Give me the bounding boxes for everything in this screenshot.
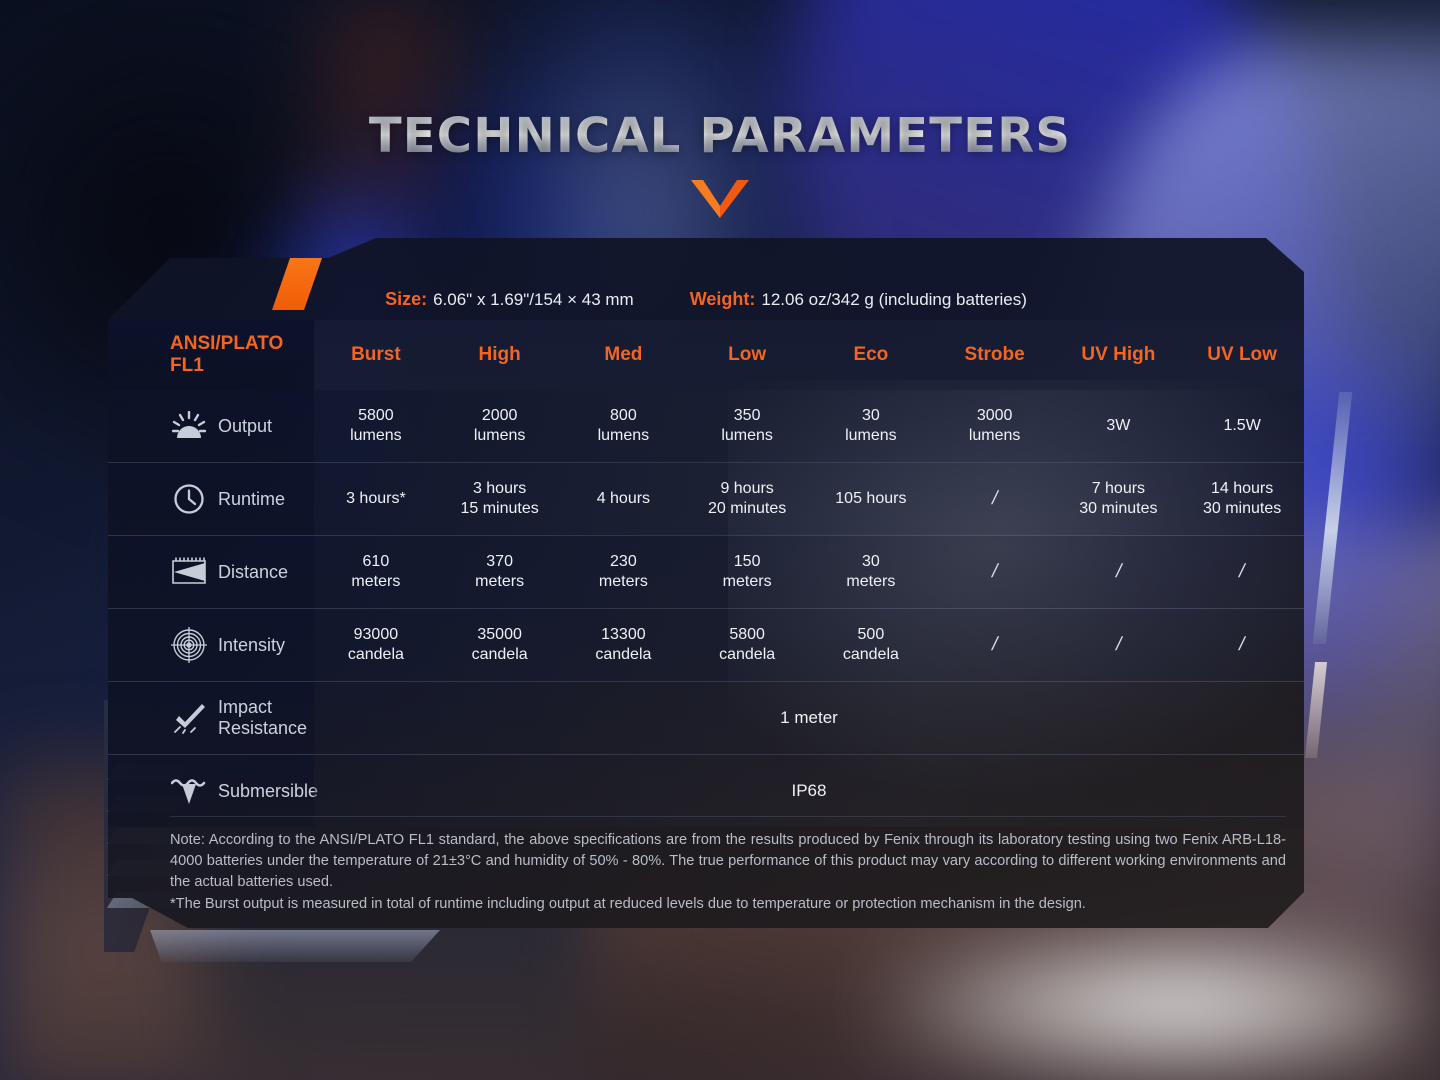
cell: 7 hours30 minutes <box>1057 463 1181 535</box>
row-header-distance: Distance <box>108 536 314 608</box>
cell-line1: / <box>1237 560 1247 584</box>
cell-line2: meters <box>599 572 648 592</box>
cell-line2: 30 minutes <box>1203 499 1281 519</box>
clock-glyph <box>173 483 205 515</box>
cell-line2: lumens <box>969 426 1021 446</box>
header-cell-high: High <box>438 320 562 390</box>
note-block: Note: According to the ANSI/PLATO FL1 st… <box>170 830 1286 915</box>
cell-line1: 30 <box>862 552 880 572</box>
row-label-line1: Impact <box>218 697 272 717</box>
cell-line1: 9 hours <box>720 479 773 499</box>
cell-line1: 350 <box>734 406 761 426</box>
cell-line2: meters <box>351 572 400 592</box>
cell: 230meters <box>562 536 686 608</box>
size-value: 6.06" x 1.69"/154 × 43 mm <box>433 290 634 309</box>
cell-line1: 610 <box>363 552 390 572</box>
cell-line1: / <box>989 633 999 657</box>
cell: 14 hours30 minutes <box>1180 463 1304 535</box>
chevron-down-glyph <box>691 178 749 218</box>
cell: 3 hours15 minutes <box>438 463 562 535</box>
size-weight-bar: Size:6.06" x 1.69"/154 × 43 mm Weight:12… <box>108 274 1304 324</box>
cell-line1: / <box>1113 633 1123 657</box>
header-cell-burst: Burst <box>314 320 438 390</box>
row-cells: 3 hours* 3 hours15 minutes 4 hours 9 hou… <box>314 463 1304 535</box>
cell: 30lumens <box>809 390 933 462</box>
row-label-submersible: Submersible <box>218 781 318 802</box>
cell: 3 hours* <box>314 463 438 535</box>
row-header-impact-resistance: ImpactResistance <box>108 682 314 754</box>
cell-line1: 500 <box>858 625 885 645</box>
header-cells: Burst High Med Low Eco Strobe UV High UV… <box>314 320 1304 390</box>
cell-line1: 93000 <box>354 625 399 645</box>
cell: 1.5W <box>1180 390 1304 462</box>
row-label-impact-resistance: ImpactResistance <box>218 697 307 738</box>
impact-drop-glyph <box>172 702 206 734</box>
cell: / <box>1180 609 1304 681</box>
cell-line2: lumens <box>721 426 773 446</box>
cell-line2: meters <box>846 572 895 592</box>
header-cell-eco: Eco <box>809 320 933 390</box>
cell-line1: 4 hours <box>597 489 650 509</box>
cell: 30meters <box>809 536 933 608</box>
cell: 4 hours <box>562 463 686 535</box>
table-row: ImpactResistance 1 meter <box>108 681 1304 754</box>
cell-line1: 3 hours* <box>346 489 406 509</box>
row-label-line2: Resistance <box>218 718 307 738</box>
cell-line1: 1.5W <box>1223 416 1260 436</box>
cell-line1: 105 hours <box>835 489 906 509</box>
cell-line2: candela <box>472 645 528 665</box>
cell-line2: meters <box>723 572 772 592</box>
row-label-runtime: Runtime <box>218 489 285 510</box>
header-label: Low <box>728 343 766 367</box>
row-cells: 5800lumens 2000lumens 800lumens 350lumen… <box>314 390 1304 462</box>
cell-line1: 370 <box>486 552 513 572</box>
cell: 13300candela <box>562 609 686 681</box>
row-header-output: Output <box>108 390 314 462</box>
row-label-intensity: Intensity <box>218 635 285 656</box>
table-row: Distance 610meters 370meters 230meters 1… <box>108 535 1304 608</box>
note-footnote: *The Burst output is measured in total o… <box>170 894 1286 915</box>
cell: 93000candela <box>314 609 438 681</box>
row-header-runtime: Runtime <box>108 463 314 535</box>
header-cell-low: Low <box>685 320 809 390</box>
header-label: UV High <box>1081 343 1155 367</box>
weight-value: 12.06 oz/342 g (including batteries) <box>761 290 1027 309</box>
cell: 610meters <box>314 536 438 608</box>
cell-line1: / <box>989 560 999 584</box>
beam-distance-glyph <box>171 557 207 587</box>
cell-line2: lumens <box>474 426 526 446</box>
header-cell-strobe: Strobe <box>933 320 1057 390</box>
cell-line1: 800 <box>610 406 637 426</box>
cell: 350lumens <box>685 390 809 462</box>
cell-line1: / <box>1237 633 1247 657</box>
cell-line1: / <box>989 487 999 511</box>
table-row: Runtime 3 hours* 3 hours15 minutes 4 hou… <box>108 462 1304 535</box>
weight-group: Weight:12.06 oz/342 g (including batteri… <box>690 289 1027 310</box>
cell: / <box>933 463 1057 535</box>
note-body: Note: According to the ANSI/PLATO FL1 st… <box>170 830 1286 893</box>
cell-line1: 7 hours <box>1092 479 1145 499</box>
cell: 105 hours <box>809 463 933 535</box>
note-separator <box>170 816 1286 817</box>
header-cell-uv-low: UV Low <box>1180 320 1304 390</box>
specifications-table: ANSI/PLATO FL1 Burst High Med Low Eco St… <box>108 320 1304 827</box>
impact-drop-icon <box>170 702 208 734</box>
cell-line1: 5800 <box>358 406 394 426</box>
cell-line2: candela <box>843 645 899 665</box>
sun-burst-glyph <box>172 411 206 441</box>
chevron-down-icon <box>0 178 1440 223</box>
submersible-icon <box>170 776 208 806</box>
cell-line1: 3 hours <box>473 479 526 499</box>
cell-line1: 5800 <box>729 625 765 645</box>
target-intensity-glyph <box>171 627 207 663</box>
row-cells: 610meters 370meters 230meters 150meters … <box>314 536 1304 608</box>
cell: / <box>933 536 1057 608</box>
cell-line2: lumens <box>350 426 402 446</box>
cell-line2: lumens <box>598 426 650 446</box>
header-label: Burst <box>351 343 401 367</box>
table-row: Output 5800lumens 2000lumens 800lumens 3… <box>108 390 1304 462</box>
size-label: Size: <box>385 289 427 309</box>
row-label-output: Output <box>218 416 272 437</box>
cell-line2: 30 minutes <box>1079 499 1157 519</box>
row-cells: 93000candela 35000candela 13300candela 5… <box>314 609 1304 681</box>
cell-line1: 150 <box>734 552 761 572</box>
cell: 5800candela <box>685 609 809 681</box>
panel-content: Size:6.06" x 1.69"/154 × 43 mm Weight:12… <box>108 238 1304 958</box>
cell: 2000lumens <box>438 390 562 462</box>
cell-line2: candela <box>719 645 775 665</box>
submersible-value: IP68 <box>572 781 1046 801</box>
cell: / <box>933 609 1057 681</box>
cell: 800lumens <box>562 390 686 462</box>
cell: 9 hours20 minutes <box>685 463 809 535</box>
cell-line1: 3000 <box>977 406 1013 426</box>
cell: 5800lumens <box>314 390 438 462</box>
header-label: High <box>479 343 521 367</box>
header-cell-med: Med <box>562 320 686 390</box>
page-title-text: TECHNICAL PARAMETERS <box>369 108 1071 164</box>
cell: / <box>1057 536 1181 608</box>
impact-resistance-value: 1 meter <box>572 708 1046 728</box>
row-cells: 1 meter <box>314 682 1304 754</box>
sun-burst-icon <box>170 411 208 441</box>
cell-line1: 13300 <box>601 625 646 645</box>
cell-line1: / <box>1113 560 1123 584</box>
cell-line1: 30 <box>862 406 880 426</box>
cell: / <box>1180 536 1304 608</box>
row-header-intensity: Intensity <box>108 609 314 681</box>
cell-line1: 35000 <box>477 625 522 645</box>
header-cell-uv-high: UV High <box>1057 320 1181 390</box>
clock-icon <box>170 483 208 515</box>
cell-line1: 230 <box>610 552 637 572</box>
cell-line2: candela <box>595 645 651 665</box>
cell: 3000lumens <box>933 390 1057 462</box>
cell-line2: 20 minutes <box>708 499 786 519</box>
cell-line2: candela <box>348 645 404 665</box>
cell-line2: lumens <box>845 426 897 446</box>
cell: 35000candela <box>438 609 562 681</box>
table-row: Intensity 93000candela 35000candela 1330… <box>108 608 1304 681</box>
cell-span: 1 meter <box>314 682 1304 754</box>
cell-line1: 3W <box>1106 416 1130 436</box>
beam-distance-icon <box>170 557 208 587</box>
cell: / <box>1057 609 1181 681</box>
row-label-distance: Distance <box>218 562 288 583</box>
cell-line1: 14 hours <box>1211 479 1273 499</box>
header-label: Strobe <box>965 343 1025 367</box>
header-label-standard: ANSI/PLATO FL1 <box>170 333 314 377</box>
cell: 370meters <box>438 536 562 608</box>
header-label: Med <box>604 343 642 367</box>
page-title: TECHNICAL PARAMETERS <box>0 108 1440 164</box>
cell-line2: 15 minutes <box>460 499 538 519</box>
target-intensity-icon <box>170 627 208 663</box>
size-group: Size:6.06" x 1.69"/154 × 43 mm <box>385 289 634 310</box>
cell: 500candela <box>809 609 933 681</box>
weight-label: Weight: <box>690 289 756 309</box>
header-label: UV Low <box>1207 343 1277 367</box>
cell-line1: 2000 <box>482 406 518 426</box>
header-label: Eco <box>853 343 888 367</box>
cell: 3W <box>1057 390 1181 462</box>
cell: 150meters <box>685 536 809 608</box>
cell-line2: meters <box>475 572 524 592</box>
submersible-glyph <box>171 776 207 806</box>
header-cell-standard: ANSI/PLATO FL1 <box>108 320 314 390</box>
table-header-row: ANSI/PLATO FL1 Burst High Med Low Eco St… <box>108 320 1304 390</box>
